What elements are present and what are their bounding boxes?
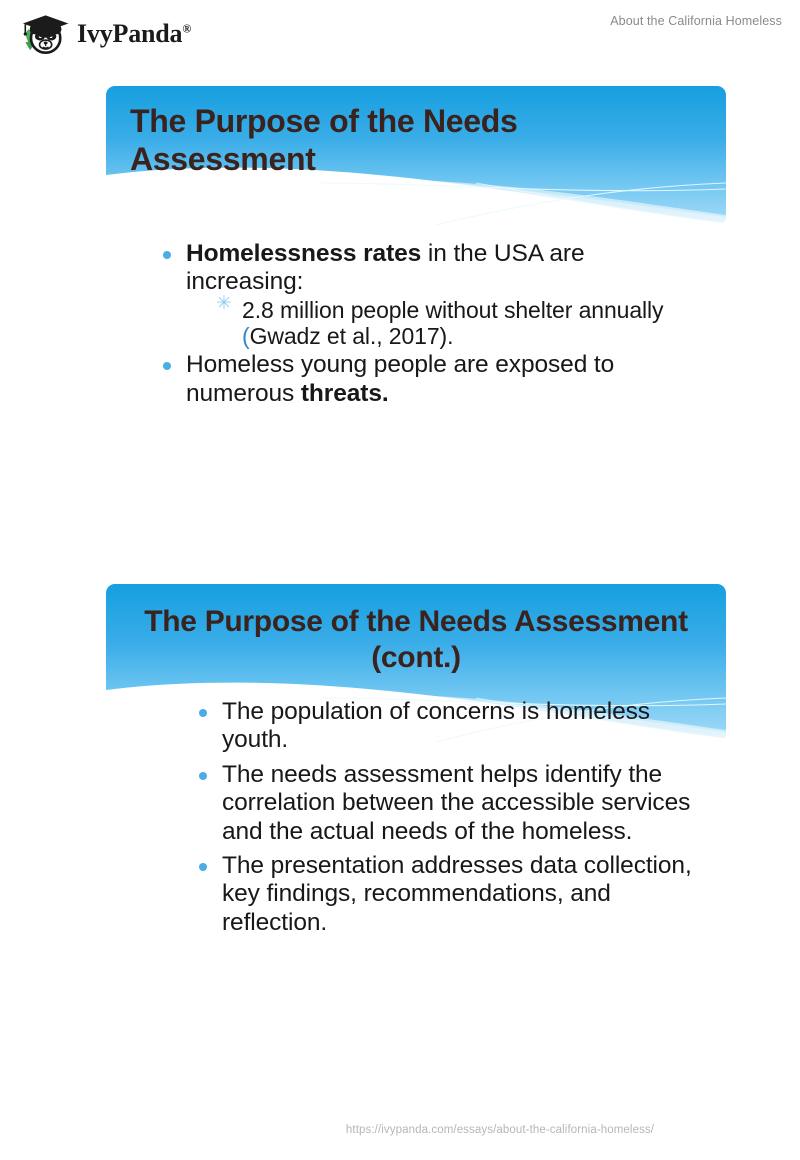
panda-graduate-logo-icon (18, 8, 70, 60)
sub-bullet-paren: ( (242, 323, 250, 349)
sub-bullet-citation: Gwadz et al., 2017). (250, 323, 454, 349)
bullet-text: The presentation addresses data collecti… (222, 852, 692, 936)
bullet-text: Homeless young people are exposed to num… (186, 351, 614, 406)
round-bullet-icon (199, 772, 207, 780)
sub-bullet-text: 2.8 million people without shelter annua… (242, 297, 663, 323)
slide-1: The Purpose of the Needs Assessment (106, 86, 726, 225)
slide-1-bullet-list: Homelessness rates in the USA are increa… (160, 240, 690, 408)
brand-logo-group[interactable]: IvyPanda® (18, 8, 191, 60)
slide-2-bullet-list: The population of concerns is homeless y… (196, 698, 716, 937)
slide-2-body: The population of concerns is homeless y… (196, 698, 716, 943)
list-item: The needs assessment helps identify the … (196, 761, 716, 846)
brand-name: IvyPanda® (77, 19, 191, 49)
list-item: The population of concerns is homeless y… (196, 698, 716, 755)
slide-1-banner: The Purpose of the Needs Assessment (106, 86, 726, 225)
page-header: IvyPanda® About the California Homeless (0, 0, 800, 68)
bullet-bold-lead: Homelessness rates (186, 240, 421, 267)
slide-2-title: The Purpose of the Needs Assessment (con… (106, 584, 726, 676)
document-title: About the California Homeless (610, 14, 782, 28)
round-bullet-icon (199, 709, 207, 717)
bullet-bold-tail: threats. (301, 380, 389, 407)
bullet-text: The needs assessment helps identify the … (222, 761, 690, 845)
round-bullet-icon (163, 251, 171, 259)
slide-1-sub-list: ✳ 2.8 million people without shelter ann… (186, 297, 690, 350)
slide-1-body: Homelessness rates in the USA are increa… (160, 240, 690, 409)
list-item: The presentation addresses data collecti… (196, 852, 716, 937)
list-item: Homeless young people are exposed to num… (160, 351, 690, 408)
round-bullet-icon (199, 863, 207, 871)
asterisk-bullet-icon: ✳ (216, 294, 232, 313)
registered-mark: ® (182, 21, 191, 35)
slide-1-title: The Purpose of the Needs Assessment (106, 86, 726, 179)
round-bullet-icon (163, 362, 171, 370)
page-footer: https://ivypanda.com/essays/about-the-ca… (0, 1120, 800, 1138)
source-url[interactable]: https://ivypanda.com/essays/about-the-ca… (346, 1124, 654, 1136)
list-item: ✳ 2.8 million people without shelter ann… (186, 297, 690, 350)
list-item: Homelessness rates in the USA are increa… (160, 240, 690, 350)
bullet-text: The population of concerns is homeless y… (222, 698, 650, 753)
